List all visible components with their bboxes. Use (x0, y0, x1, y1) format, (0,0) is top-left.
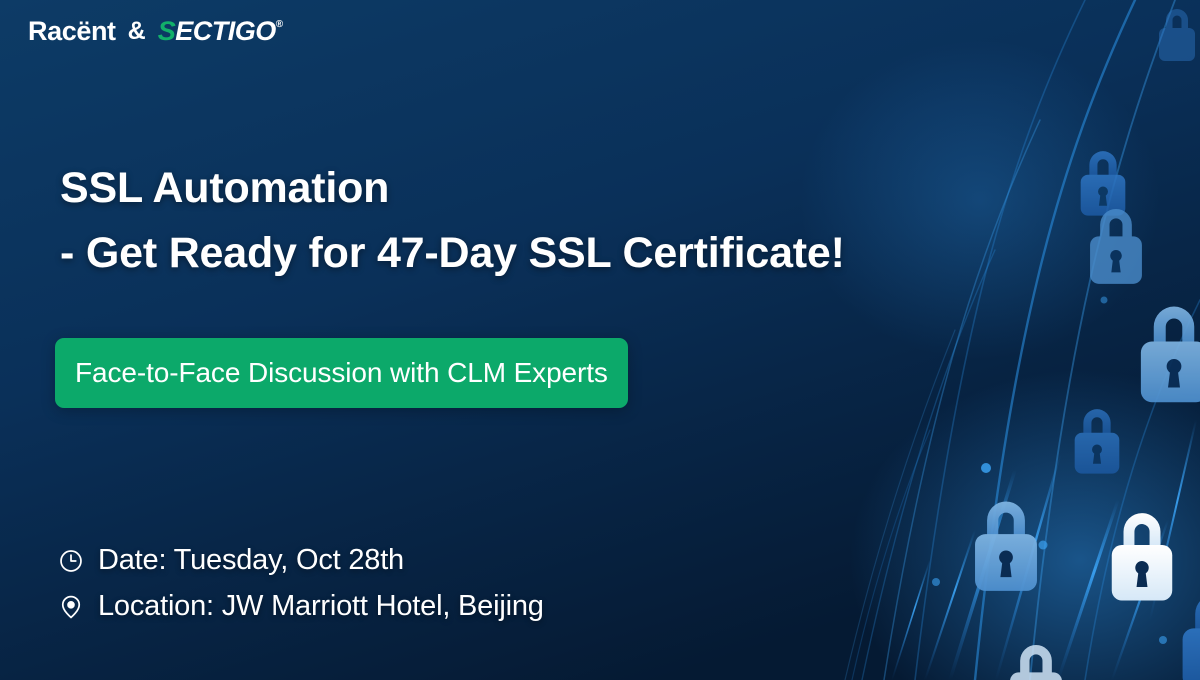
clock-icon (58, 548, 84, 574)
event-location-row: Location: JW Marriott Hotel, Beijing (58, 591, 544, 623)
headline-line-1: SSL Automation (60, 158, 845, 219)
event-headline: SSL Automation - Get Ready for 47-Day SS… (60, 158, 845, 284)
racent-logo: Racënt (28, 18, 116, 45)
event-date-text: Date: Tuesday, Oct 28th (98, 545, 404, 577)
event-location-text: Location: JW Marriott Hotel, Beijing (98, 591, 544, 623)
event-details: Date: Tuesday, Oct 28th Location: JW Mar… (58, 545, 544, 637)
ampersand-separator: & (128, 19, 146, 44)
event-date-row: Date: Tuesday, Oct 28th (58, 545, 544, 577)
session-type-label: Face-to-Face Discussion with CLM Experts (75, 359, 608, 387)
event-banner: Racënt & S ECTIGO ® SSL Automation - Get… (0, 0, 1200, 680)
session-type-badge: Face-to-Face Discussion with CLM Experts (55, 338, 628, 408)
sectigo-logo-initial: S (158, 18, 176, 45)
sectigo-logo: S ECTIGO ® (158, 18, 283, 45)
sectigo-logo-wordmark: ECTIGO (175, 18, 276, 45)
headline-line-2: - Get Ready for 47-Day SSL Certificate! (60, 223, 845, 284)
map-pin-icon (58, 594, 84, 620)
registered-trademark-icon: ® (276, 20, 283, 30)
brand-logo-row: Racënt & S ECTIGO ® (28, 18, 283, 45)
